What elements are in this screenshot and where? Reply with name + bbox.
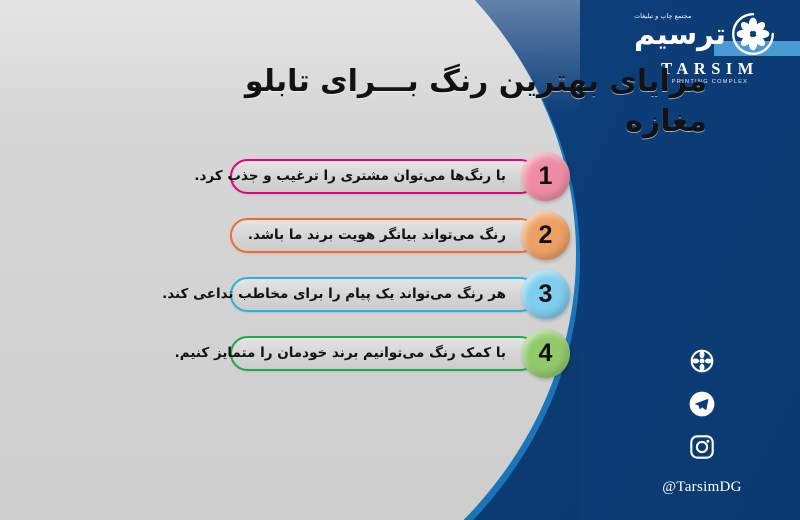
flower-pinwheel-icon: [731, 12, 775, 60]
list-item-number-badge: 4: [521, 329, 570, 378]
list-item-pill[interactable]: رنگ می‌تواند بیانگر هویت برند ما باشد.: [230, 218, 538, 253]
list-item-number-badge: 3: [521, 270, 570, 319]
list-item-number: 2: [539, 221, 553, 250]
list-item-label: رنگ می‌تواند بیانگر هویت برند ما باشد.: [238, 229, 536, 243]
list-item-label: هر رنگ می‌تواند یک پیام را برای مخاطب تد…: [152, 288, 536, 302]
list-item-number-badge: 1: [521, 152, 570, 201]
aparat-icon[interactable]: [689, 348, 715, 374]
social-links: @TarsimDG: [642, 348, 762, 496]
page-title: مزایای بهترین رنگ بـــرای تابلو مغازه: [187, 62, 707, 142]
list-item-pill[interactable]: با رنگ‌ها می‌توان مشتری را ترغیب و جذب ک…: [230, 159, 538, 194]
list-item-label: با کمک رنگ می‌توانیم برند خودمان را متما…: [165, 347, 536, 361]
logo-tagline: مجتمع چاپ و تبلیغات: [634, 13, 691, 20]
list-item-label: با رنگ‌ها می‌توان مشتری را ترغیب و جذب ک…: [184, 170, 536, 184]
list-item[interactable]: هر رنگ می‌تواند یک پیام را برای مخاطب تد…: [230, 270, 560, 325]
list-item-pill[interactable]: هر رنگ می‌تواند یک پیام را برای مخاطب تد…: [230, 277, 538, 312]
telegram-icon[interactable]: [689, 391, 715, 417]
logo-top-row: مجتمع چاپ و تبلیغات ترسیم: [634, 12, 786, 60]
list-item-number: 3: [539, 280, 553, 309]
social-handle[interactable]: @TarsimDG: [662, 479, 742, 496]
instagram-icon[interactable]: [689, 434, 715, 460]
list-item[interactable]: رنگ می‌تواند بیانگر هویت برند ما باشد. 2: [230, 211, 560, 266]
list-item[interactable]: با رنگ‌ها می‌توان مشتری را ترغیب و جذب ک…: [230, 152, 560, 207]
list-item[interactable]: با کمک رنگ می‌توانیم برند خودمان را متما…: [230, 329, 560, 384]
list-item-number: 4: [539, 339, 553, 368]
benefits-list: با رنگ‌ها می‌توان مشتری را ترغیب و جذب ک…: [230, 152, 560, 388]
logo-name-persian: ترسیم: [634, 21, 726, 48]
infographic-canvas: مجتمع چاپ و تبلیغات ترسیم TARSIM PRINTIN…: [0, 0, 800, 520]
list-item-number-badge: 2: [521, 211, 570, 260]
logo-wordmark: مجتمع چاپ و تبلیغات ترسیم: [634, 12, 726, 47]
list-item-number: 1: [539, 162, 553, 191]
list-item-pill[interactable]: با کمک رنگ می‌توانیم برند خودمان را متما…: [230, 336, 538, 371]
